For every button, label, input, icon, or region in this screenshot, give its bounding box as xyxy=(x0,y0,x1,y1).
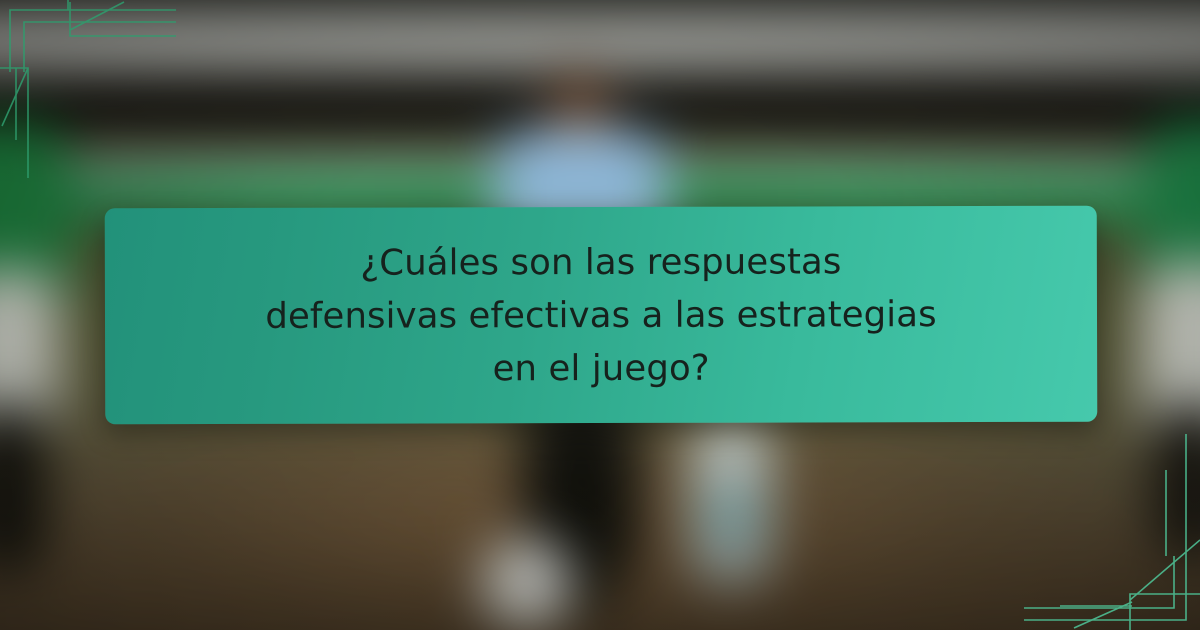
question-text: ¿Cuáles son las respuestas defensivas ef… xyxy=(261,235,941,396)
question-card: ¿Cuáles son las respuestas defensivas ef… xyxy=(105,206,1098,425)
social-card-canvas: ¿Cuáles son las respuestas defensivas ef… xyxy=(0,0,1200,630)
